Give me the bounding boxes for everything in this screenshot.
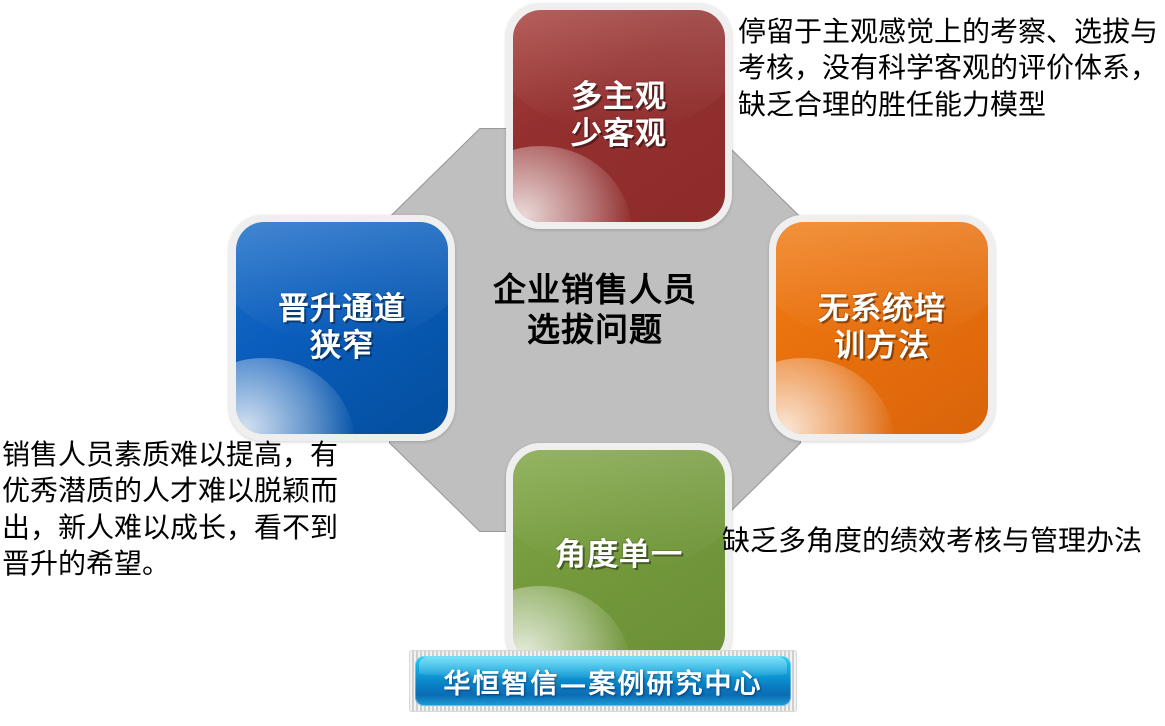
- annotation-bottom-right: 缺乏多角度的绩效考核与管理办法: [722, 523, 1142, 559]
- annotation-top-right: 停留于主观感觉上的考察、选拔与考核，没有科学客观的评价体系，缺乏合理的胜任能力模…: [738, 14, 1158, 123]
- node-top-subjectivity[interactable]: 多主观 少客观: [506, 3, 732, 229]
- center-title-line-1: 企业销售人员: [420, 270, 770, 310]
- footer-banner[interactable]: 华恒智信—案例研究中心: [409, 650, 797, 712]
- center-title-line-2: 选拔问题: [420, 310, 770, 350]
- node-left-label-line-2: 狭窄: [278, 328, 406, 365]
- node-top-surface: 多主观 少客观: [513, 10, 725, 222]
- node-left-label: 晋升通道 狭窄: [278, 291, 406, 365]
- node-bottom-single-perspective[interactable]: 角度单一: [506, 443, 732, 669]
- footer-banner-text: 华恒智信—案例研究中心: [444, 662, 763, 701]
- node-bottom-surface: 角度单一: [513, 450, 725, 662]
- annotation-bottom-left: 销售人员素质难以提高，有优秀潜质的人才难以脱颖而出，新人难以成长，看不到晋升的希…: [2, 437, 362, 583]
- node-top-label-line-2: 少客观: [571, 116, 667, 153]
- node-left-label-line-1: 晋升通道: [278, 291, 406, 328]
- node-bottom-label: 角度单一: [555, 537, 683, 574]
- node-right-label-line-1: 无系统培: [818, 291, 946, 328]
- node-right-label: 无系统培 训方法: [818, 291, 946, 365]
- node-top-label: 多主观 少客观: [571, 79, 667, 153]
- node-right-label-line-2: 训方法: [818, 328, 946, 365]
- node-left-surface: 晋升通道 狭窄: [236, 222, 448, 434]
- diagram-canvas: 企业销售人员 选拔问题 多主观 少客观 晋升通道 狭窄 无系统培 训方法: [0, 0, 1165, 726]
- node-left-promotion-channel[interactable]: 晋升通道 狭窄: [229, 215, 455, 441]
- node-top-label-line-1: 多主观: [571, 79, 667, 116]
- node-right-surface: 无系统培 训方法: [776, 222, 988, 434]
- node-bottom-label-line-1: 角度单一: [555, 537, 683, 574]
- node-right-no-training-system[interactable]: 无系统培 训方法: [769, 215, 995, 441]
- center-title: 企业销售人员 选拔问题: [420, 270, 770, 351]
- footer-banner-surface: 华恒智信—案例研究中心: [415, 656, 791, 706]
